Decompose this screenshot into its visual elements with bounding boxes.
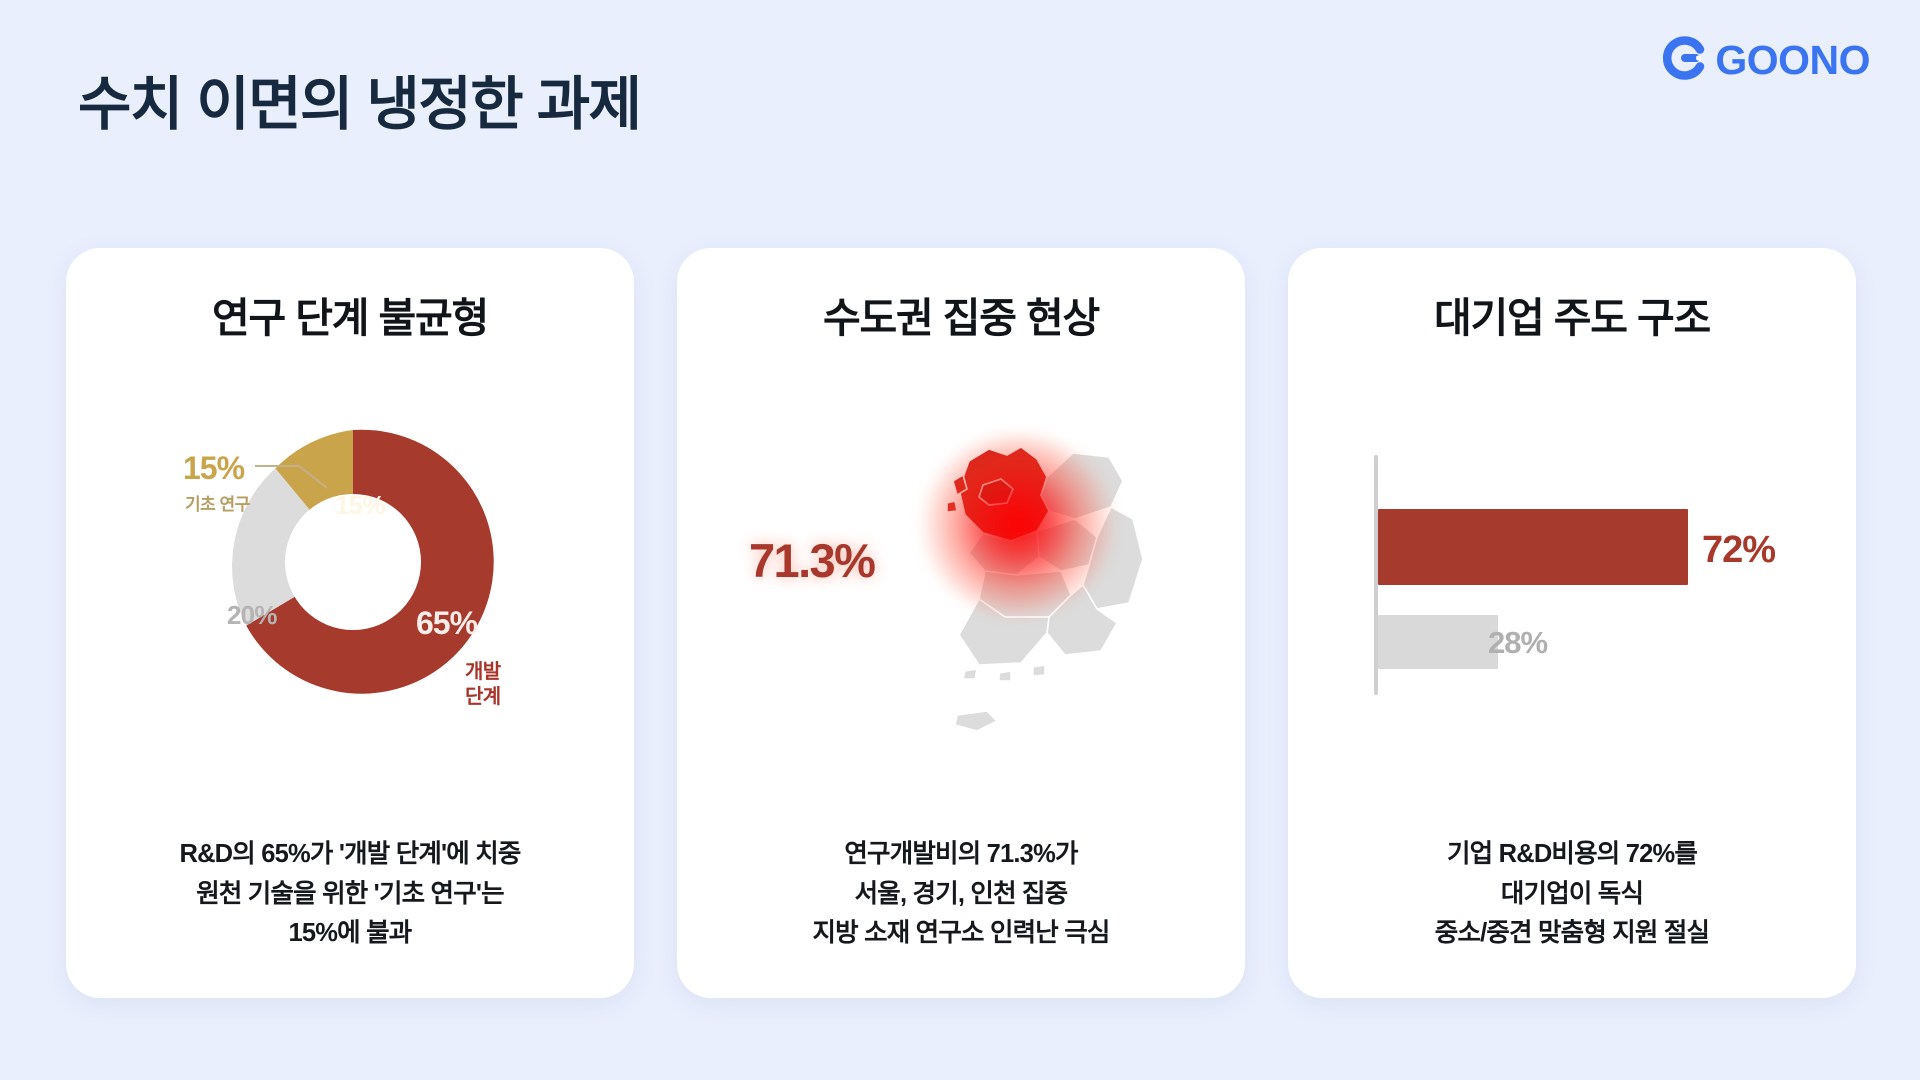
page-title: 수치 이면의 냉정한 과제: [78, 72, 640, 139]
bar-chart: 72% 28%: [1308, 350, 1836, 835]
caption-line: 서울, 경기, 인천 집중: [812, 875, 1109, 915]
donut-label-red-name: 개발 단계: [465, 660, 501, 710]
donut-label-red-name-line2: 단계: [465, 686, 501, 708]
card-title: 연구 단계 불균형: [212, 284, 488, 344]
cards-container: 연구 단계 불균형 15% 기초 연구: [66, 248, 1856, 998]
donut-callout-value: 15%: [183, 450, 244, 487]
donut-label-gray: 20%: [227, 600, 277, 631]
donut-leader-line: [253, 458, 333, 492]
caption-line: 연구개발비의 71.3%가: [812, 835, 1109, 875]
korea-map-icon: [861, 419, 1161, 749]
card-caption: 연구개발비의 71.3%가 서울, 경기, 인천 집중 지방 소재 연구소 인력…: [812, 835, 1109, 968]
caption-line: 원천 기술을 위한 '기초 연구'는: [179, 875, 520, 915]
bar-sme: [1378, 615, 1498, 669]
card-caption: 기업 R&D비용의 72%를 대기업이 독식 중소/중견 맞춤형 지원 절실: [1435, 835, 1709, 968]
bar-label-sme: 28%: [1488, 625, 1547, 661]
card-research-stage-imbalance[interactable]: 연구 단계 불균형 15% 기초 연구: [66, 248, 634, 998]
goono-logo[interactable]: GOONO: [1660, 36, 1870, 85]
donut-svg: [203, 412, 503, 712]
card-large-enterprise-dominance[interactable]: 대기업 주도 구조 72% 28% 기업 R&D비용의 72%를 대기업이 독식…: [1288, 248, 1856, 998]
caption-line: 중소/중견 맞춤형 지원 절실: [1435, 914, 1709, 954]
donut-callout-name: 기초 연구: [185, 490, 250, 515]
goono-logo-icon: [1660, 36, 1706, 85]
korea-map-chart: 71.3%: [697, 350, 1225, 835]
caption-line: 지방 소재 연구소 인력난 극심: [812, 914, 1109, 954]
caption-line: R&D의 65%가 '개발 단계'에 치중: [179, 835, 520, 875]
map-islet: [999, 671, 1011, 681]
map-region-gyeongbuk: [1083, 507, 1143, 609]
map-value-label: 71.3%: [749, 533, 874, 588]
slide-root: GOONO 수치 이면의 냉정한 과제 연구 단계 불균형: [0, 0, 1920, 1080]
goono-logo-text: GOONO: [1715, 40, 1870, 81]
map-islet: [963, 669, 977, 679]
bar-large-enterprise: [1378, 509, 1688, 585]
bar-label-large-enterprise: 72%: [1702, 529, 1775, 572]
caption-line: 대기업이 독식: [1435, 875, 1709, 915]
card-capital-area-concentration[interactable]: 수도권 집중 현상: [677, 248, 1245, 998]
card-title: 대기업 주도 구조: [1434, 284, 1710, 344]
map-islet: [1033, 665, 1045, 676]
donut-label-gold: 15%: [335, 490, 385, 521]
map-region-chungbuk: [1037, 519, 1097, 571]
donut-label-red-name-line1: 개발: [465, 661, 501, 683]
map-island: [947, 501, 957, 512]
card-caption: R&D의 65%가 '개발 단계'에 치중 원천 기술을 위한 '기초 연구'는…: [179, 835, 520, 968]
caption-line: 기업 R&D비용의 72%를: [1435, 835, 1709, 875]
caption-line: 15%에 불과: [179, 914, 520, 954]
card-title: 수도권 집중 현상: [823, 284, 1099, 344]
donut-chart: 15% 기초 연구 15% 20% 65% 개발 단계: [86, 350, 614, 835]
donut-label-red: 65%: [416, 605, 477, 642]
map-region-jeju: [955, 711, 997, 731]
